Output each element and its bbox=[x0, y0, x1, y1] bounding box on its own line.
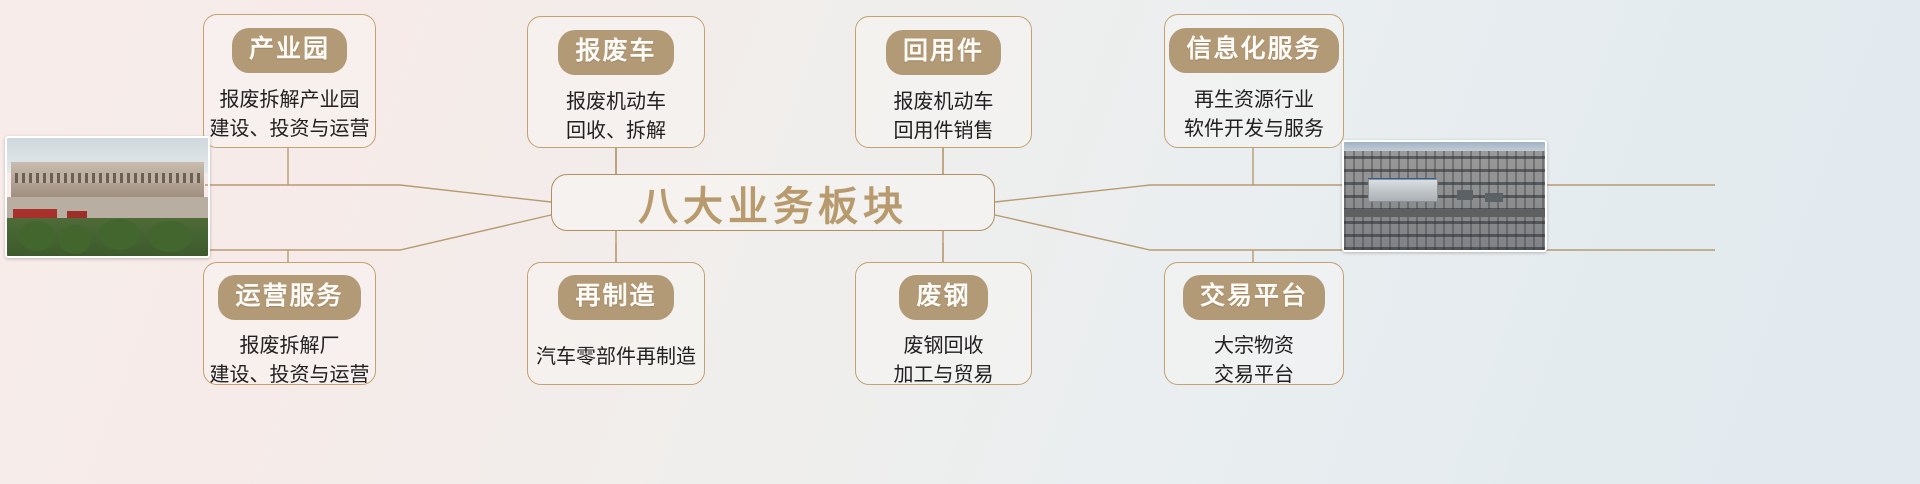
card-top-3-body: 报废机动车 回用件销售 bbox=[894, 88, 994, 146]
photo-truck bbox=[1457, 190, 1473, 201]
card-top-4-badge: 信息化服务 bbox=[1169, 28, 1338, 73]
card-top-4[interactable]: 信息化服务 再生资源行业 软件开发与服务 bbox=[1164, 14, 1344, 148]
photo-warehouse bbox=[1368, 179, 1438, 203]
center-node-title: 八大业务板块 bbox=[638, 174, 908, 232]
card-bottom-1-badge: 运营服务 bbox=[218, 275, 360, 320]
left-facility-photo: 报废拆解产业园办公楼与广场照片 bbox=[5, 136, 210, 258]
card-top-1-body: 报废拆解产业园 建设、投资与运营 bbox=[210, 86, 370, 144]
card-top-2[interactable]: 报废车 报废机动车 回收、拆解 bbox=[527, 16, 705, 148]
photo-tree bbox=[148, 221, 192, 253]
right-facility-photo: 报废汽车回收拆解场地航拍照片 bbox=[1342, 140, 1547, 252]
card-top-4-body: 再生资源行业 软件开发与服务 bbox=[1184, 86, 1324, 144]
photo-access-road bbox=[1344, 209, 1545, 217]
photo-building-windows bbox=[15, 173, 200, 182]
card-top-3-badge: 回用件 bbox=[886, 30, 1001, 75]
card-top-2-body: 报废机动车 回收、拆解 bbox=[566, 88, 666, 146]
photo-tree bbox=[99, 219, 139, 250]
card-bottom-2-body: 汽车零部件再制造 bbox=[536, 343, 696, 372]
card-bottom-3[interactable]: 废钢 废钢回收 加工与贸易 bbox=[855, 262, 1032, 385]
photo-tree bbox=[59, 225, 91, 253]
business-segments-diagram: 八大业务板块 产业园 报废拆解产业园 建设、投资与运营 报废车 报废机动车 回收… bbox=[0, 0, 1920, 484]
card-bottom-1[interactable]: 运营服务 报废拆解厂 建设、投资与运营 bbox=[203, 262, 376, 385]
card-bottom-4[interactable]: 交易平台 大宗物资 交易平台 bbox=[1164, 262, 1344, 385]
card-top-2-badge: 报废车 bbox=[558, 30, 673, 75]
photo-red-banner-2 bbox=[67, 211, 87, 218]
card-bottom-2-badge: 再制造 bbox=[558, 275, 673, 320]
photo-sky bbox=[1344, 142, 1545, 151]
card-bottom-4-body: 大宗物资 交易平台 bbox=[1214, 332, 1294, 390]
photo-truck bbox=[1485, 193, 1503, 203]
card-top-3[interactable]: 回用件 报废机动车 回用件销售 bbox=[855, 16, 1032, 148]
card-top-1[interactable]: 产业园 报废拆解产业园 建设、投资与运营 bbox=[203, 14, 376, 148]
card-bottom-3-body: 废钢回收 加工与贸易 bbox=[894, 332, 994, 390]
card-bottom-2[interactable]: 再制造 汽车零部件再制造 bbox=[527, 262, 705, 385]
card-bottom-1-body: 报废拆解厂 建设、投资与运营 bbox=[210, 332, 370, 390]
card-bottom-3-badge: 废钢 bbox=[899, 275, 987, 320]
center-node: 八大业务板块 bbox=[551, 174, 995, 231]
card-bottom-4-badge: 交易平台 bbox=[1183, 275, 1325, 320]
card-top-1-badge: 产业园 bbox=[232, 28, 347, 73]
